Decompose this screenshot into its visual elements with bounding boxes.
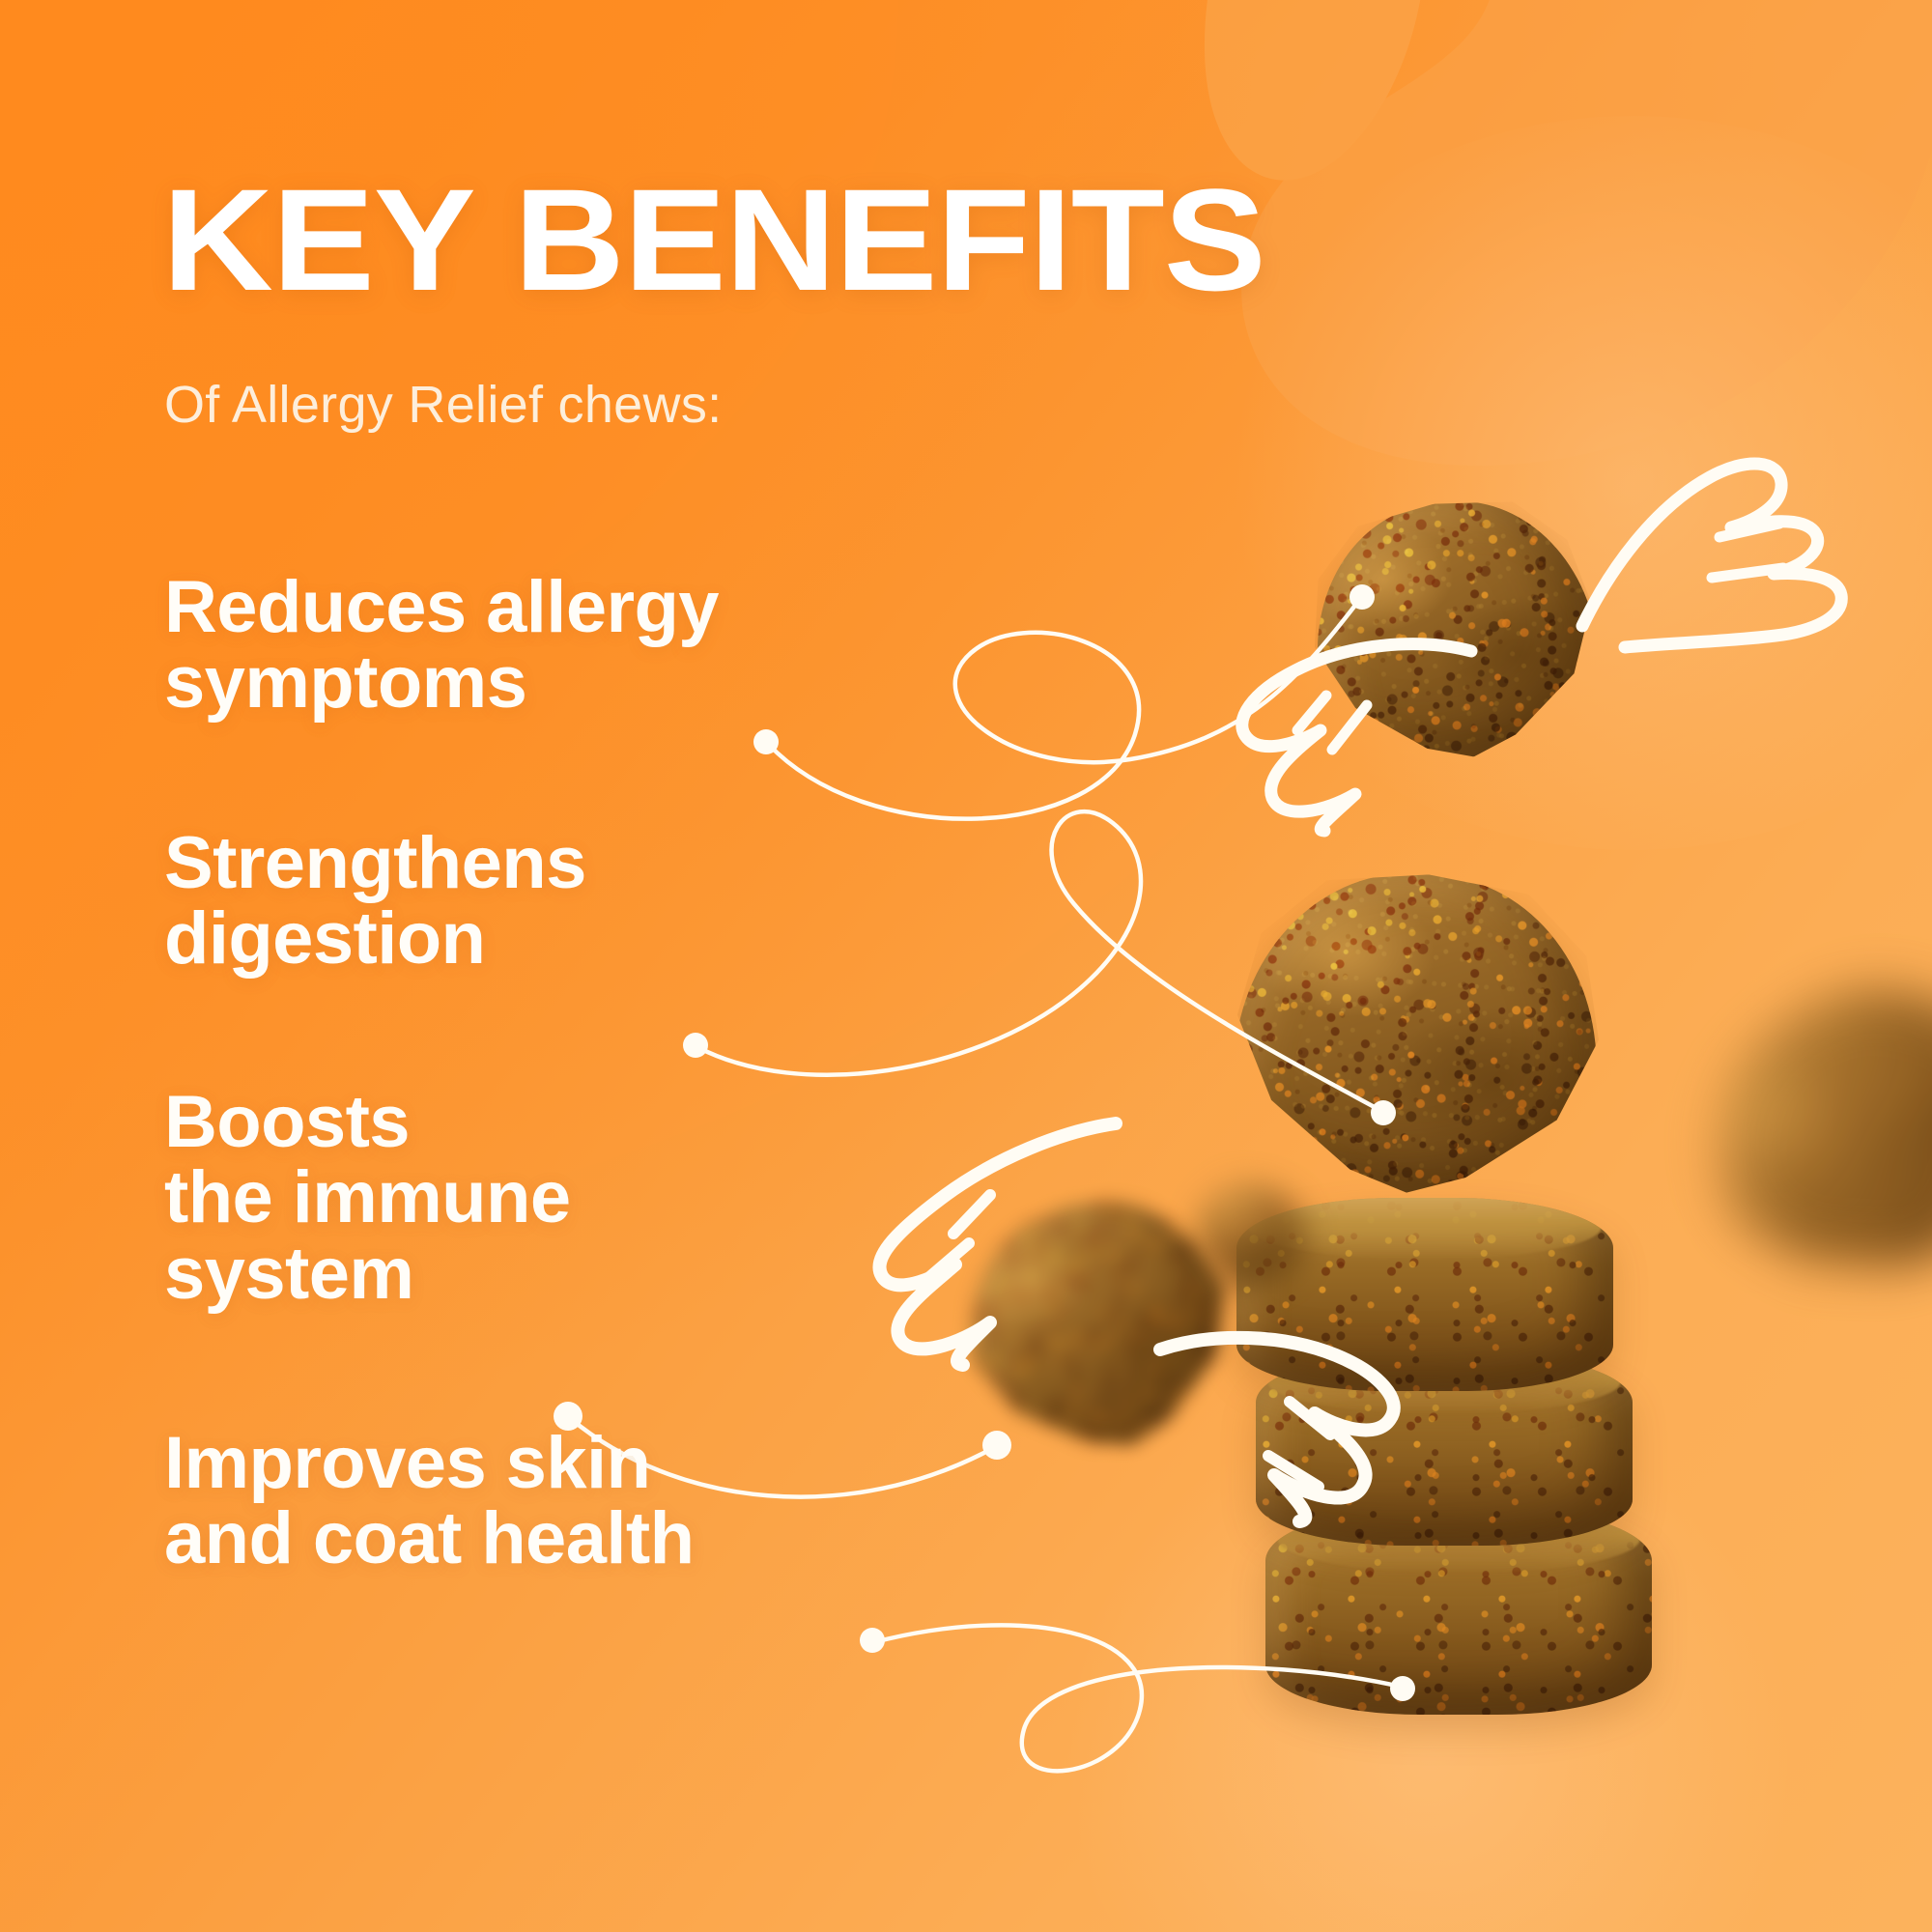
- wing-top-right-icon: [1575, 454, 1864, 676]
- flying-chew: [937, 1171, 1261, 1481]
- connector-skin-path: [874, 1625, 1401, 1771]
- stack-chew-2: [1256, 1352, 1633, 1546]
- benefit-item-improves-skin-coat: Improves skin and coat health: [164, 1426, 956, 1577]
- connector-dot-skin-product: [1390, 1676, 1415, 1701]
- bokeh-chew-small: [1183, 1173, 1319, 1301]
- connector-dot-immune-product: [982, 1431, 1011, 1460]
- benefit-label: Reduces allergy symptoms: [164, 570, 956, 722]
- benefit-item-boosts-immune-system: Boosts the immune system: [164, 1085, 956, 1312]
- top-flying-chew: [1295, 482, 1612, 779]
- benefit-label: Strengthens digestion: [164, 826, 956, 978]
- wing-mid-right-icon: [1154, 1328, 1444, 1570]
- connector-dot-allergy-product: [1350, 584, 1375, 610]
- benefit-label: Boosts the immune system: [164, 1085, 956, 1312]
- benefit-item-reduces-allergy-symptoms: Reduces allergy symptoms: [164, 570, 956, 722]
- connector-dot-skin-label: [860, 1628, 885, 1653]
- benefit-label: Improves skin and coat health: [164, 1426, 956, 1577]
- benefit-item-strengthens-digestion: Strengthens digestion: [164, 826, 956, 978]
- background-glow-lower: [1063, 1391, 1797, 1932]
- page-subtitle: Of Allergy Relief chews:: [164, 375, 722, 435]
- stack-chew-1: [1236, 1198, 1613, 1391]
- middle-chew: [1226, 862, 1609, 1205]
- stack-chew-3: [1265, 1507, 1652, 1715]
- background-glow-upper: [1198, 116, 1932, 850]
- bokeh-chew-right: [1659, 930, 1932, 1341]
- connector-dot-digestion-product: [1371, 1100, 1396, 1125]
- wing-top-left-icon: [1212, 638, 1478, 831]
- page-title: KEY BENEFITS: [162, 170, 1265, 309]
- benefits-list: Reduces allergy symptoms Strengthens dig…: [164, 570, 956, 1577]
- key-benefits-poster: KEY BENEFITS Of Allergy Relief chews: Re…: [0, 0, 1932, 1932]
